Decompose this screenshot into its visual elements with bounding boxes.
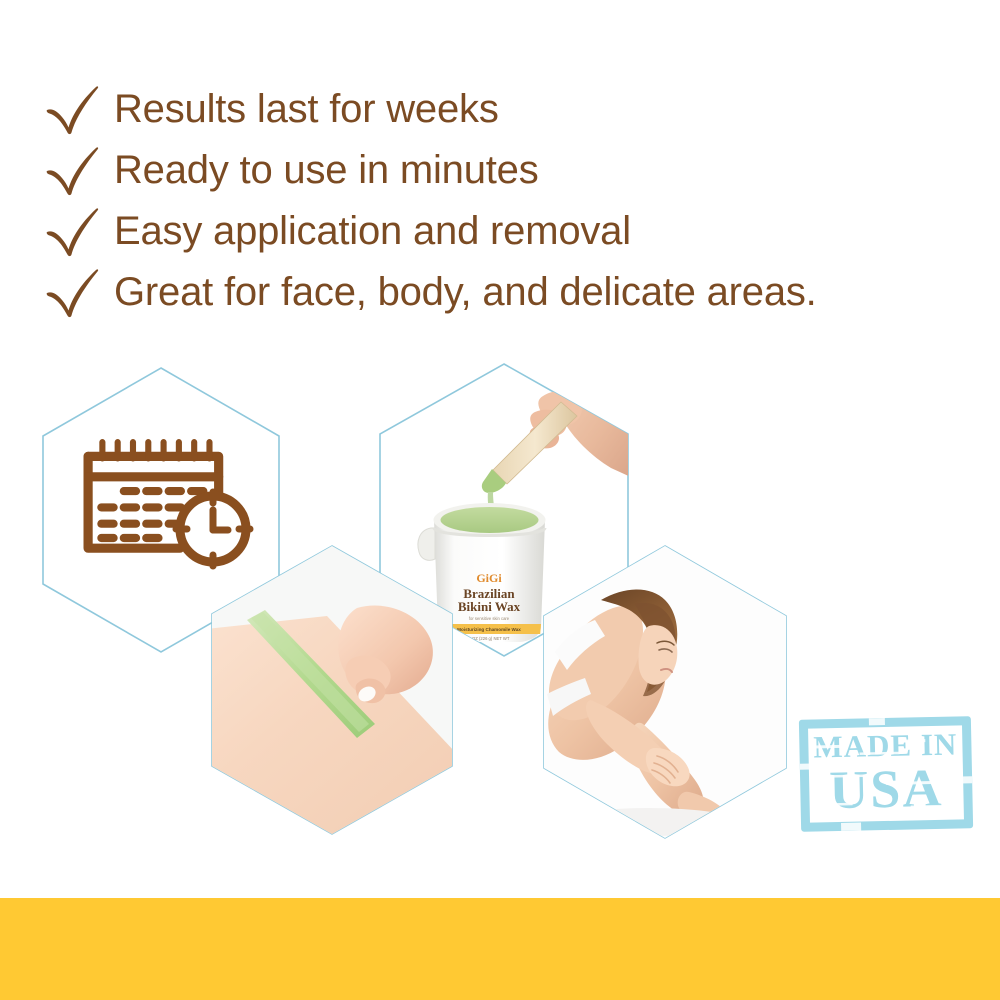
check-icon	[44, 205, 102, 257]
benefit-item: Ready to use in minutes	[44, 139, 994, 200]
wax-application-on-skin-photo	[197, 542, 457, 842]
benefit-label: Results last for weeks	[114, 89, 499, 129]
benefit-item: Great for face, body, and delicate areas…	[44, 261, 994, 322]
made-in-usa-stamp: MADE IN USA	[799, 716, 973, 832]
floor-shadow	[559, 808, 739, 836]
label-band-text: Moisturizing Chamomile Wax	[457, 627, 521, 632]
benefit-label: Ready to use in minutes	[114, 150, 539, 190]
green-wax-surface	[441, 507, 539, 533]
collage-cell-wax-strip-removal	[207, 542, 457, 838]
check-icon	[44, 144, 102, 196]
benefit-label: Great for face, body, and delicate areas…	[114, 272, 817, 312]
bottom-color-band	[0, 898, 1000, 1000]
benefit-label: Easy application and removal	[114, 211, 631, 251]
benefit-item: Results last for weeks	[44, 78, 994, 139]
benefit-item: Easy application and removal	[44, 200, 994, 261]
product-tagline: for sensitive skin care	[469, 616, 510, 621]
product-brand: GiGi	[476, 571, 502, 585]
stamp-line-usa: USA	[800, 760, 973, 818]
marketing-image-canvas: Results last for weeks Ready to use in m…	[0, 0, 1000, 1000]
stamp-line-made-in: MADE IN	[799, 728, 972, 763]
check-icon	[44, 266, 102, 318]
collage-cell-smooth-legs	[539, 542, 791, 842]
check-icon	[44, 83, 102, 135]
woman-touching-smooth-leg-photo	[539, 542, 791, 842]
benefits-list: Results last for weeks Ready to use in m…	[44, 78, 994, 322]
product-name-line-2: Bikini Wax	[458, 599, 521, 614]
